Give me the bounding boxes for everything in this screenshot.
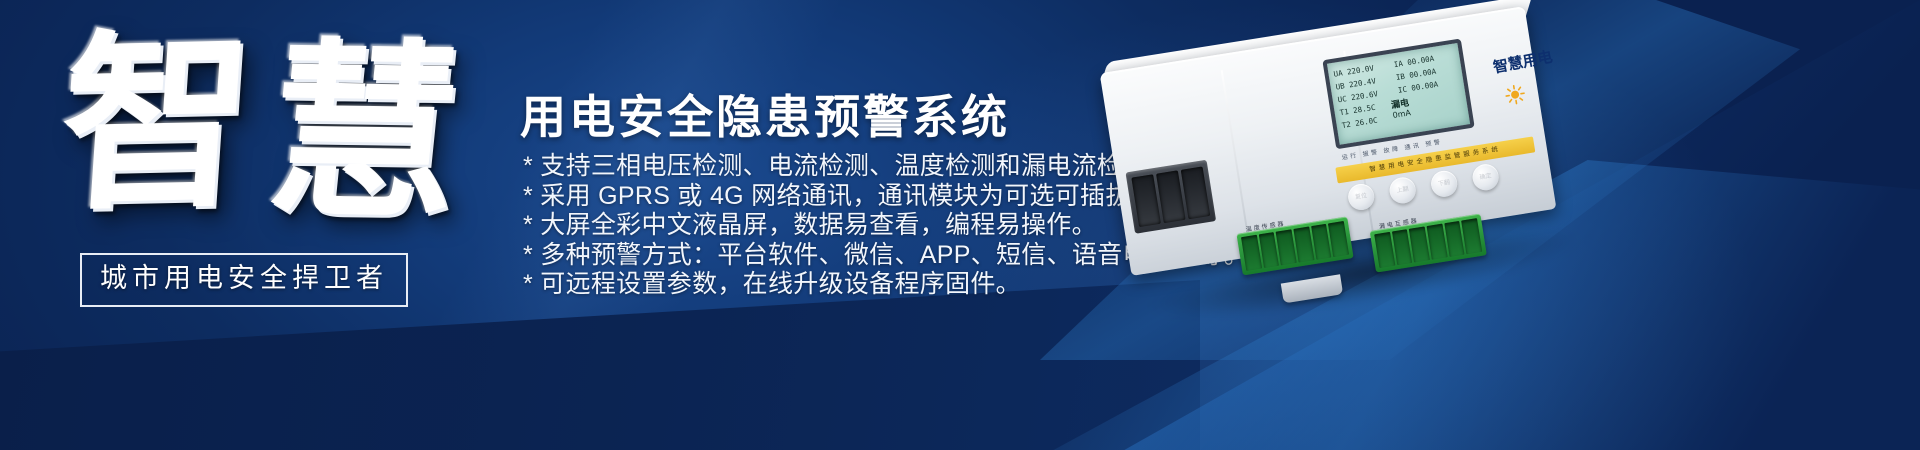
tagline-badge: 城市用电安全捍卫者 <box>80 253 408 307</box>
device-button-confirm[interactable]: 确定 <box>1471 162 1501 192</box>
page-title: 用电安全隐患预警系统 <box>520 92 1010 143</box>
lcd-readings-grid: UA 220.0V IA 00.00A UB 220.4V IB 00.00A … <box>1333 49 1465 139</box>
device-button-up[interactable]: 上翻 <box>1388 176 1418 206</box>
promo-banner: 智慧 城市用电安全捍卫者 用电安全隐患预警系统 * 支持三相电压检测、电流检测、… <box>0 0 1920 450</box>
sun-icon <box>1504 83 1527 106</box>
calligraphy-char-zhi: 智 <box>54 9 277 236</box>
device-connector-block <box>1125 160 1216 234</box>
device-button-down[interactable]: 下翻 <box>1429 169 1459 199</box>
lcd-leakage-readout: 漏电 0mA <box>1390 96 1412 121</box>
calligraphy-char-hui: 慧 <box>260 36 487 229</box>
product-device-image: UA 220.0V IA 00.00A UB 220.4V IB 00.00A … <box>1058 0 1663 390</box>
calligraphy-logo: 智慧 <box>55 22 484 221</box>
device-button-reset[interactable]: 复位 <box>1346 182 1376 212</box>
